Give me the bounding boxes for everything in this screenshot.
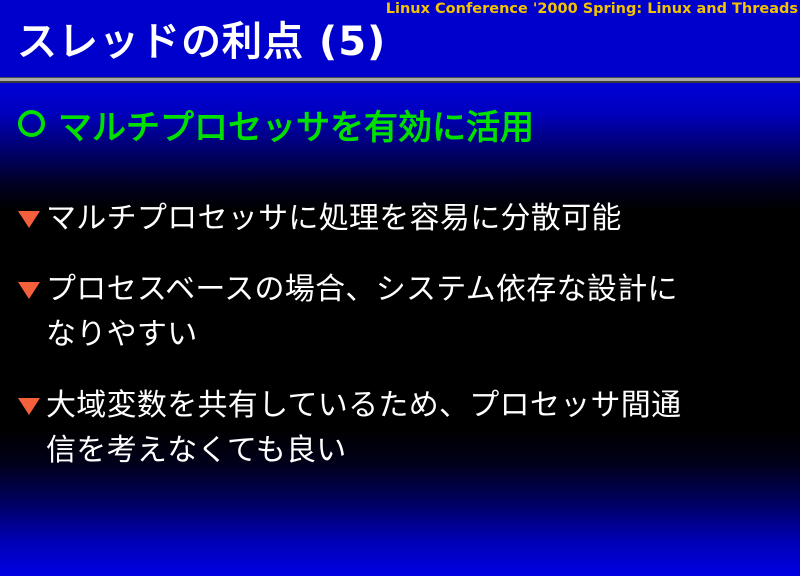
list-item: 大域変数を共有しているため、プロセッサ間通 信を考えなくても良い xyxy=(18,383,790,473)
triangle-down-icon xyxy=(18,282,40,299)
section-heading: マルチプロセッサを有効に活用 xyxy=(18,104,534,152)
conference-banner: Linux Conference '2000 Spring: Linux and… xyxy=(386,0,798,18)
triangle-down-icon xyxy=(18,211,40,228)
triangle-down-icon xyxy=(18,398,40,415)
slide-title: スレッドの利点 (5) xyxy=(17,14,386,70)
bullet-list: マルチプロセッサに処理を容易に分散可能 プロセスベースの場合、システム依存な設計… xyxy=(18,196,790,499)
circle-icon xyxy=(18,110,45,137)
list-item: プロセスベースの場合、システム依存な設計に なりやすい xyxy=(18,267,790,357)
list-item-label: プロセスベースの場合、システム依存な設計に なりやすい xyxy=(46,267,790,357)
divider-bottom-edge xyxy=(0,81,800,83)
section-heading-label: マルチプロセッサを有効に活用 xyxy=(58,104,534,152)
list-item-label: マルチプロセッサに処理を容易に分散可能 xyxy=(46,196,790,241)
list-item-label: 大域変数を共有しているため、プロセッサ間通 信を考えなくても良い xyxy=(46,383,790,473)
header-divider xyxy=(0,77,800,83)
presentation-slide: Linux Conference '2000 Spring: Linux and… xyxy=(0,0,800,576)
list-item: マルチプロセッサに処理を容易に分散可能 xyxy=(18,196,790,241)
